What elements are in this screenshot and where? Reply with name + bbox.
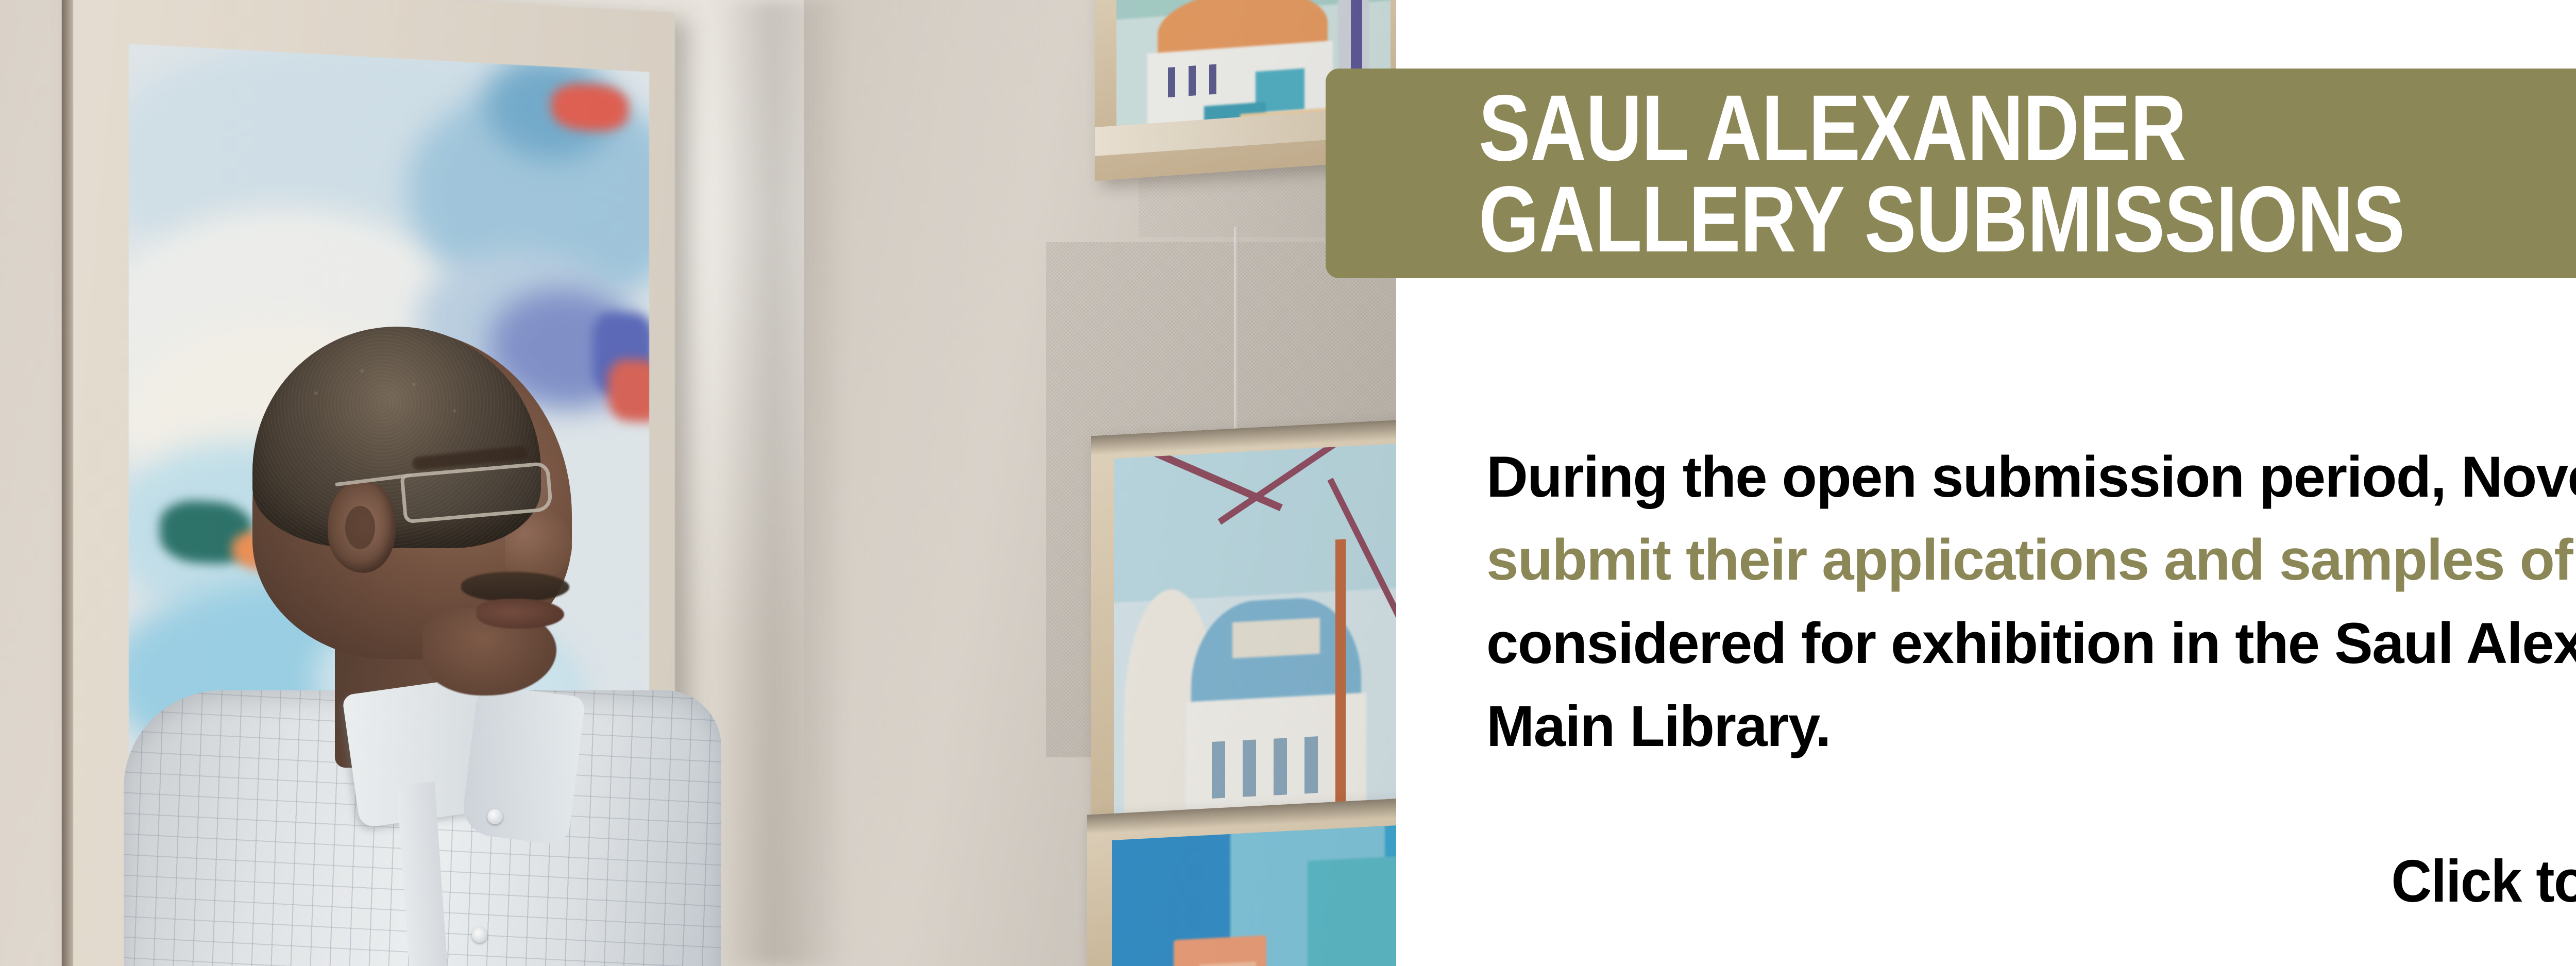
shirt-button-second <box>472 927 487 943</box>
gallery-submissions-banner[interactable]: SAUL ALEXANDER GALLERY SUBMISSIONS Durin… <box>0 0 2576 966</box>
cta-label[interactable]: Click to learn more. <box>2392 851 2576 911</box>
visitor-mustache <box>461 572 569 602</box>
shirt-collar-right <box>460 684 586 845</box>
title-line-2: GALLERY SUBMISSIONS <box>1479 174 2576 265</box>
call-to-action[interactable]: Click to learn more. <box>1396 845 2576 966</box>
visitor-ear <box>328 482 396 573</box>
title-banner: SAUL ALEXANDER GALLERY SUBMISSIONS <box>1326 69 2576 278</box>
gallery-visitor <box>180 330 747 966</box>
shirt-button-top <box>487 809 503 824</box>
body-text-part-1: During the open submission period, Novem… <box>1486 445 2576 509</box>
small-painting-bottom <box>1087 798 1396 966</box>
visitor-lips <box>477 599 564 629</box>
body-copy: During the open submission period, Novem… <box>1486 435 2576 768</box>
gallery-photo <box>0 0 1396 966</box>
title-line-1: SAUL ALEXANDER <box>1479 82 2576 174</box>
banner-content: SAUL ALEXANDER GALLERY SUBMISSIONS Durin… <box>1396 0 2576 966</box>
